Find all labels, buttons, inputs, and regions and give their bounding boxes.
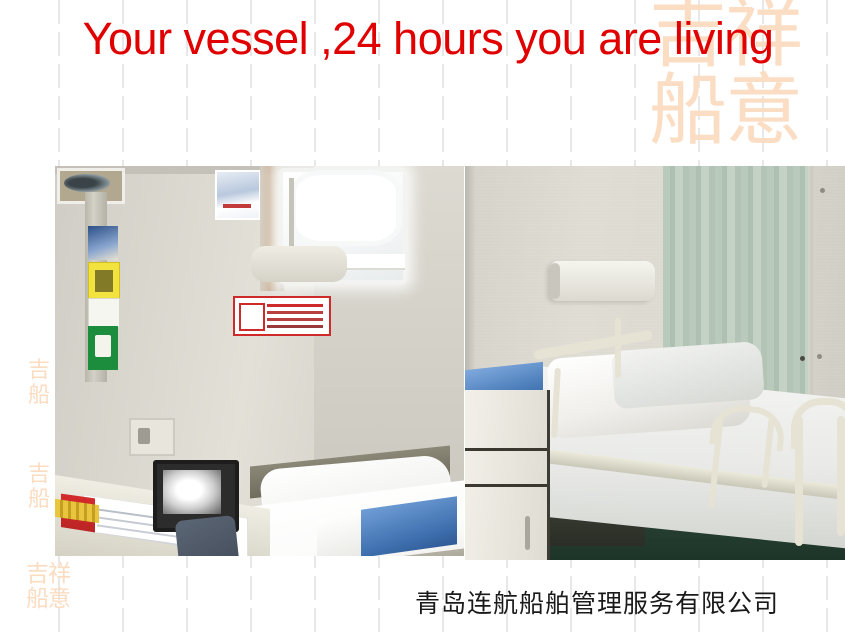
bed-foot-post	[837, 416, 845, 536]
bed-pillow-secondary	[611, 341, 765, 409]
wall-notice-white	[88, 298, 120, 328]
door-screw-icon	[800, 356, 805, 361]
nightstand-handle-icon	[525, 516, 530, 550]
seal-line-1: 吉祥	[26, 562, 82, 587]
seal-line-2: 船意	[649, 72, 845, 150]
nightstand-cabinet	[465, 390, 550, 560]
nightstand-drawer-line	[465, 448, 547, 451]
wall-notice-green	[88, 326, 118, 370]
wall-screw-icon	[820, 188, 825, 193]
bed-foot-post	[795, 416, 803, 546]
desk-chair-back	[175, 515, 244, 556]
wall-screw-icon	[817, 354, 822, 359]
wall-outlet-icon	[129, 418, 175, 456]
red-safety-notice	[233, 296, 331, 336]
wall-lamp-icon	[550, 261, 655, 301]
wall-poster-icon	[215, 170, 261, 220]
photo-cabin-bed-curtain[interactable]	[465, 166, 845, 560]
nightstand-door-line	[465, 484, 547, 487]
wall-notice-photo	[88, 226, 118, 260]
lamp-stem	[289, 178, 294, 253]
porthole-ring-icon	[291, 170, 401, 246]
seal-watermark-small-3: 吉祥 船意	[26, 562, 82, 616]
wall-notice-yellow	[88, 262, 120, 300]
slide-title: Your vessel ,24 hours you are living	[48, 10, 808, 68]
wall-lamp-icon	[251, 246, 347, 282]
photo-cabin-desk-bed[interactable]	[55, 166, 464, 556]
slide-canvas: 吉祥 船意 吉 船 吉 船 吉祥 船意 Your vessel ,24 hour…	[0, 0, 845, 635]
company-footer: 青岛连航船舶管理服务有限公司	[415, 584, 779, 620]
seal-line-2: 船意	[26, 587, 82, 612]
bed-head-post	[615, 318, 621, 378]
